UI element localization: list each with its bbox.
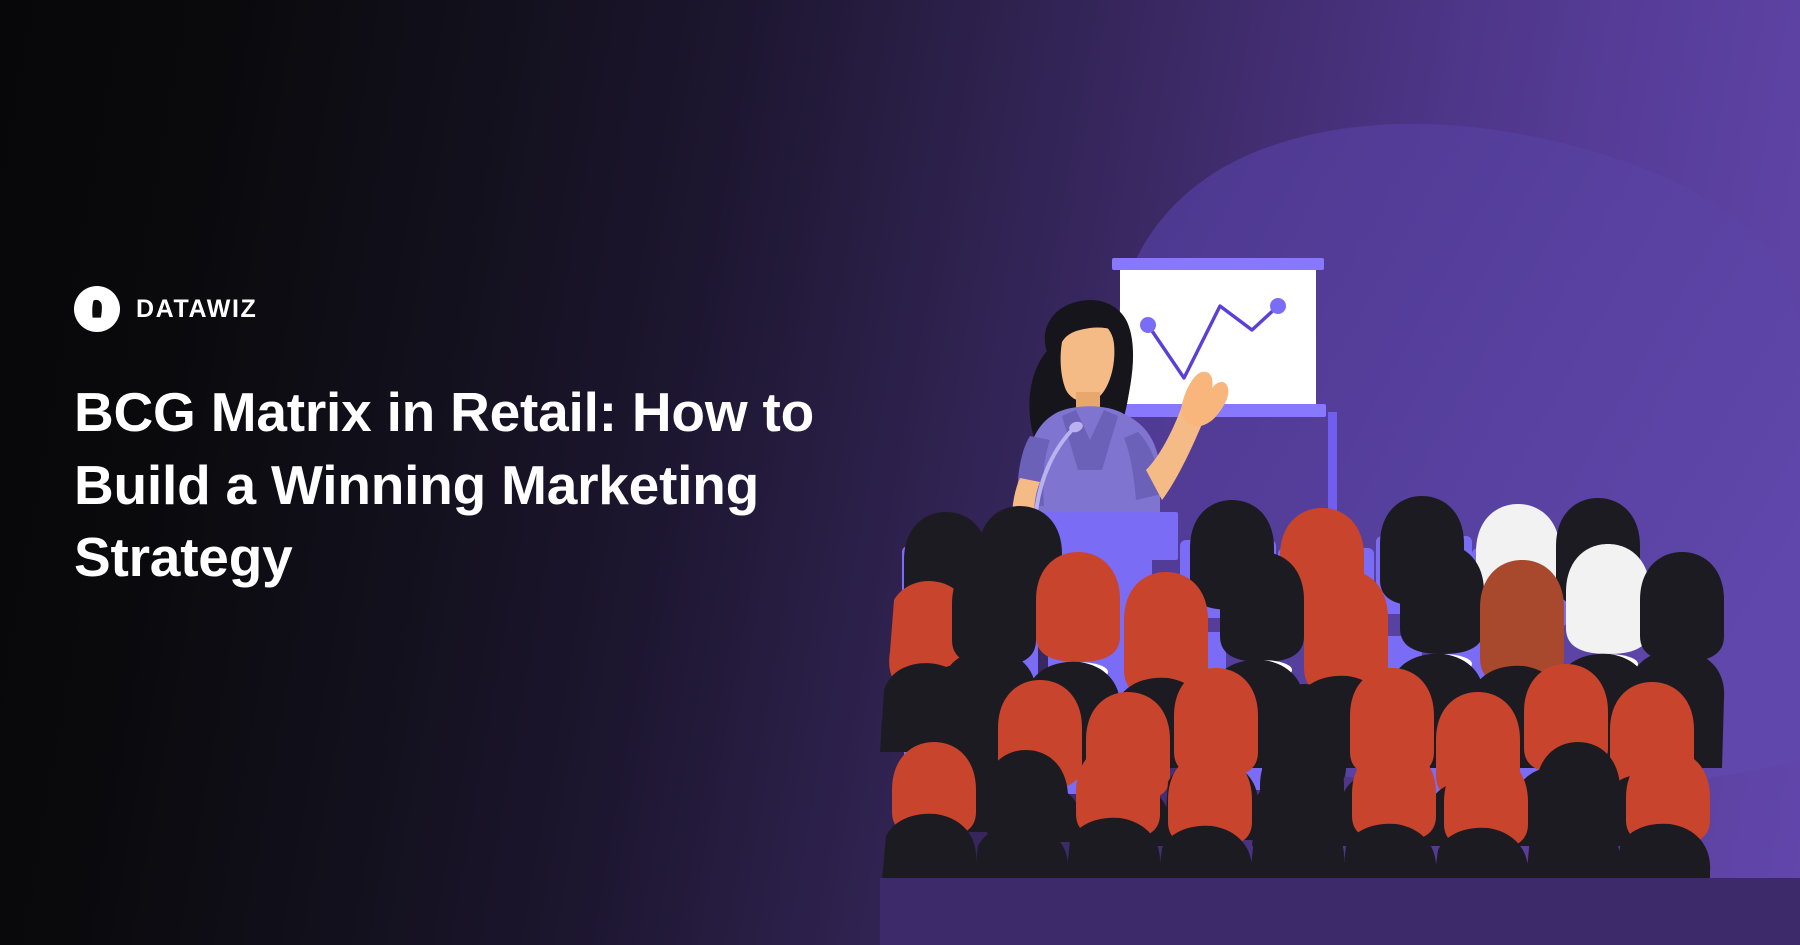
seated-audience (880, 496, 1724, 880)
chart-start-point (1140, 317, 1156, 333)
audience-row-front (882, 738, 1710, 880)
audience-person (882, 742, 976, 880)
brand-logo[interactable]: DATAWIZ (74, 286, 894, 332)
brand-wordmark: DATAWIZ (136, 297, 257, 322)
chart-end-point (1270, 298, 1286, 314)
audience-person (1158, 752, 1252, 880)
projection-screen-top-bar (1112, 258, 1324, 270)
stage-floor (880, 878, 1800, 945)
datawiz-droplet-icon (74, 286, 120, 332)
banner-hero: DATAWIZ BCG Matrix in Retail: How to Bui… (0, 0, 1800, 945)
conference-presentation-illustration (880, 0, 1800, 945)
hero-content: DATAWIZ BCG Matrix in Retail: How to Bui… (74, 286, 894, 594)
page-title: BCG Matrix in Retail: How to Build a Win… (74, 376, 864, 594)
